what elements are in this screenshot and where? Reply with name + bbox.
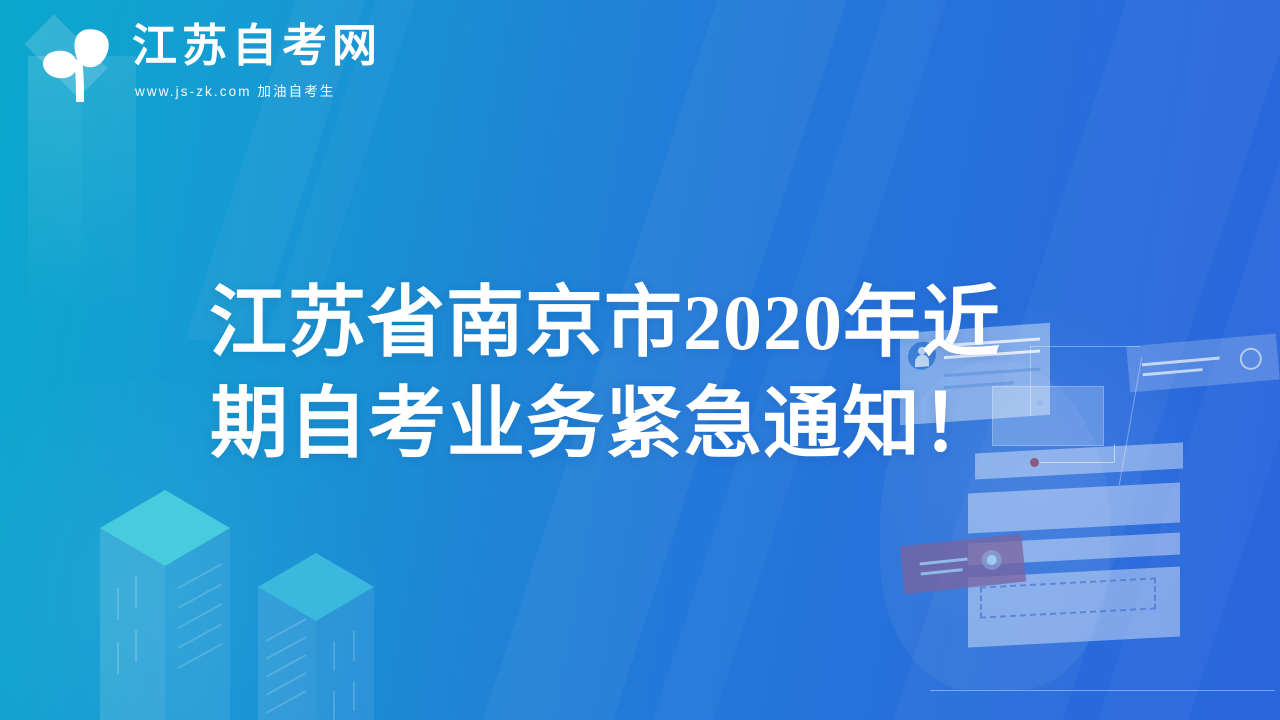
purple-tag-card [900,534,1026,594]
building-short-right [258,545,458,720]
building-tall-left [100,480,340,720]
tilted-card [1126,334,1279,393]
stack-bar [968,532,1180,565]
brand-name: 江苏自考网 [132,22,382,71]
sprout-icon [34,14,120,108]
card-text-line [1142,357,1220,367]
card-text-line [1143,368,1203,376]
banner-root: 江苏自考网 www.js-zk.com 加油自考生 [0,0,1280,720]
connector-line [1119,357,1143,485]
ground-line [930,690,1275,691]
stack-bar [968,482,1180,533]
dashed-placeholder [980,577,1156,618]
page-title-line-1: 江苏省南京市2020年近 [130,272,1080,373]
brand-subtitle: www.js-zk.com 加油自考生 [135,80,382,100]
circle-icon [981,549,1003,571]
card-text-line [920,558,968,566]
circle-icon [1239,347,1263,371]
page-title: 江苏省南京市2020年近 期自考业务紧急通知！ [130,272,1080,475]
logo-text-block: 江苏自考网 www.js-zk.com 加油自考生 [132,22,382,100]
card-text-line [921,568,963,575]
connector-line [1114,444,1115,462]
bg-diagonal-band [1079,0,1280,720]
site-logo[interactable]: 江苏自考网 www.js-zk.com 加油自考生 [34,14,382,108]
page-title-line-2: 期自考业务紧急通知！ [130,373,1080,474]
stack-bar [968,566,1180,647]
